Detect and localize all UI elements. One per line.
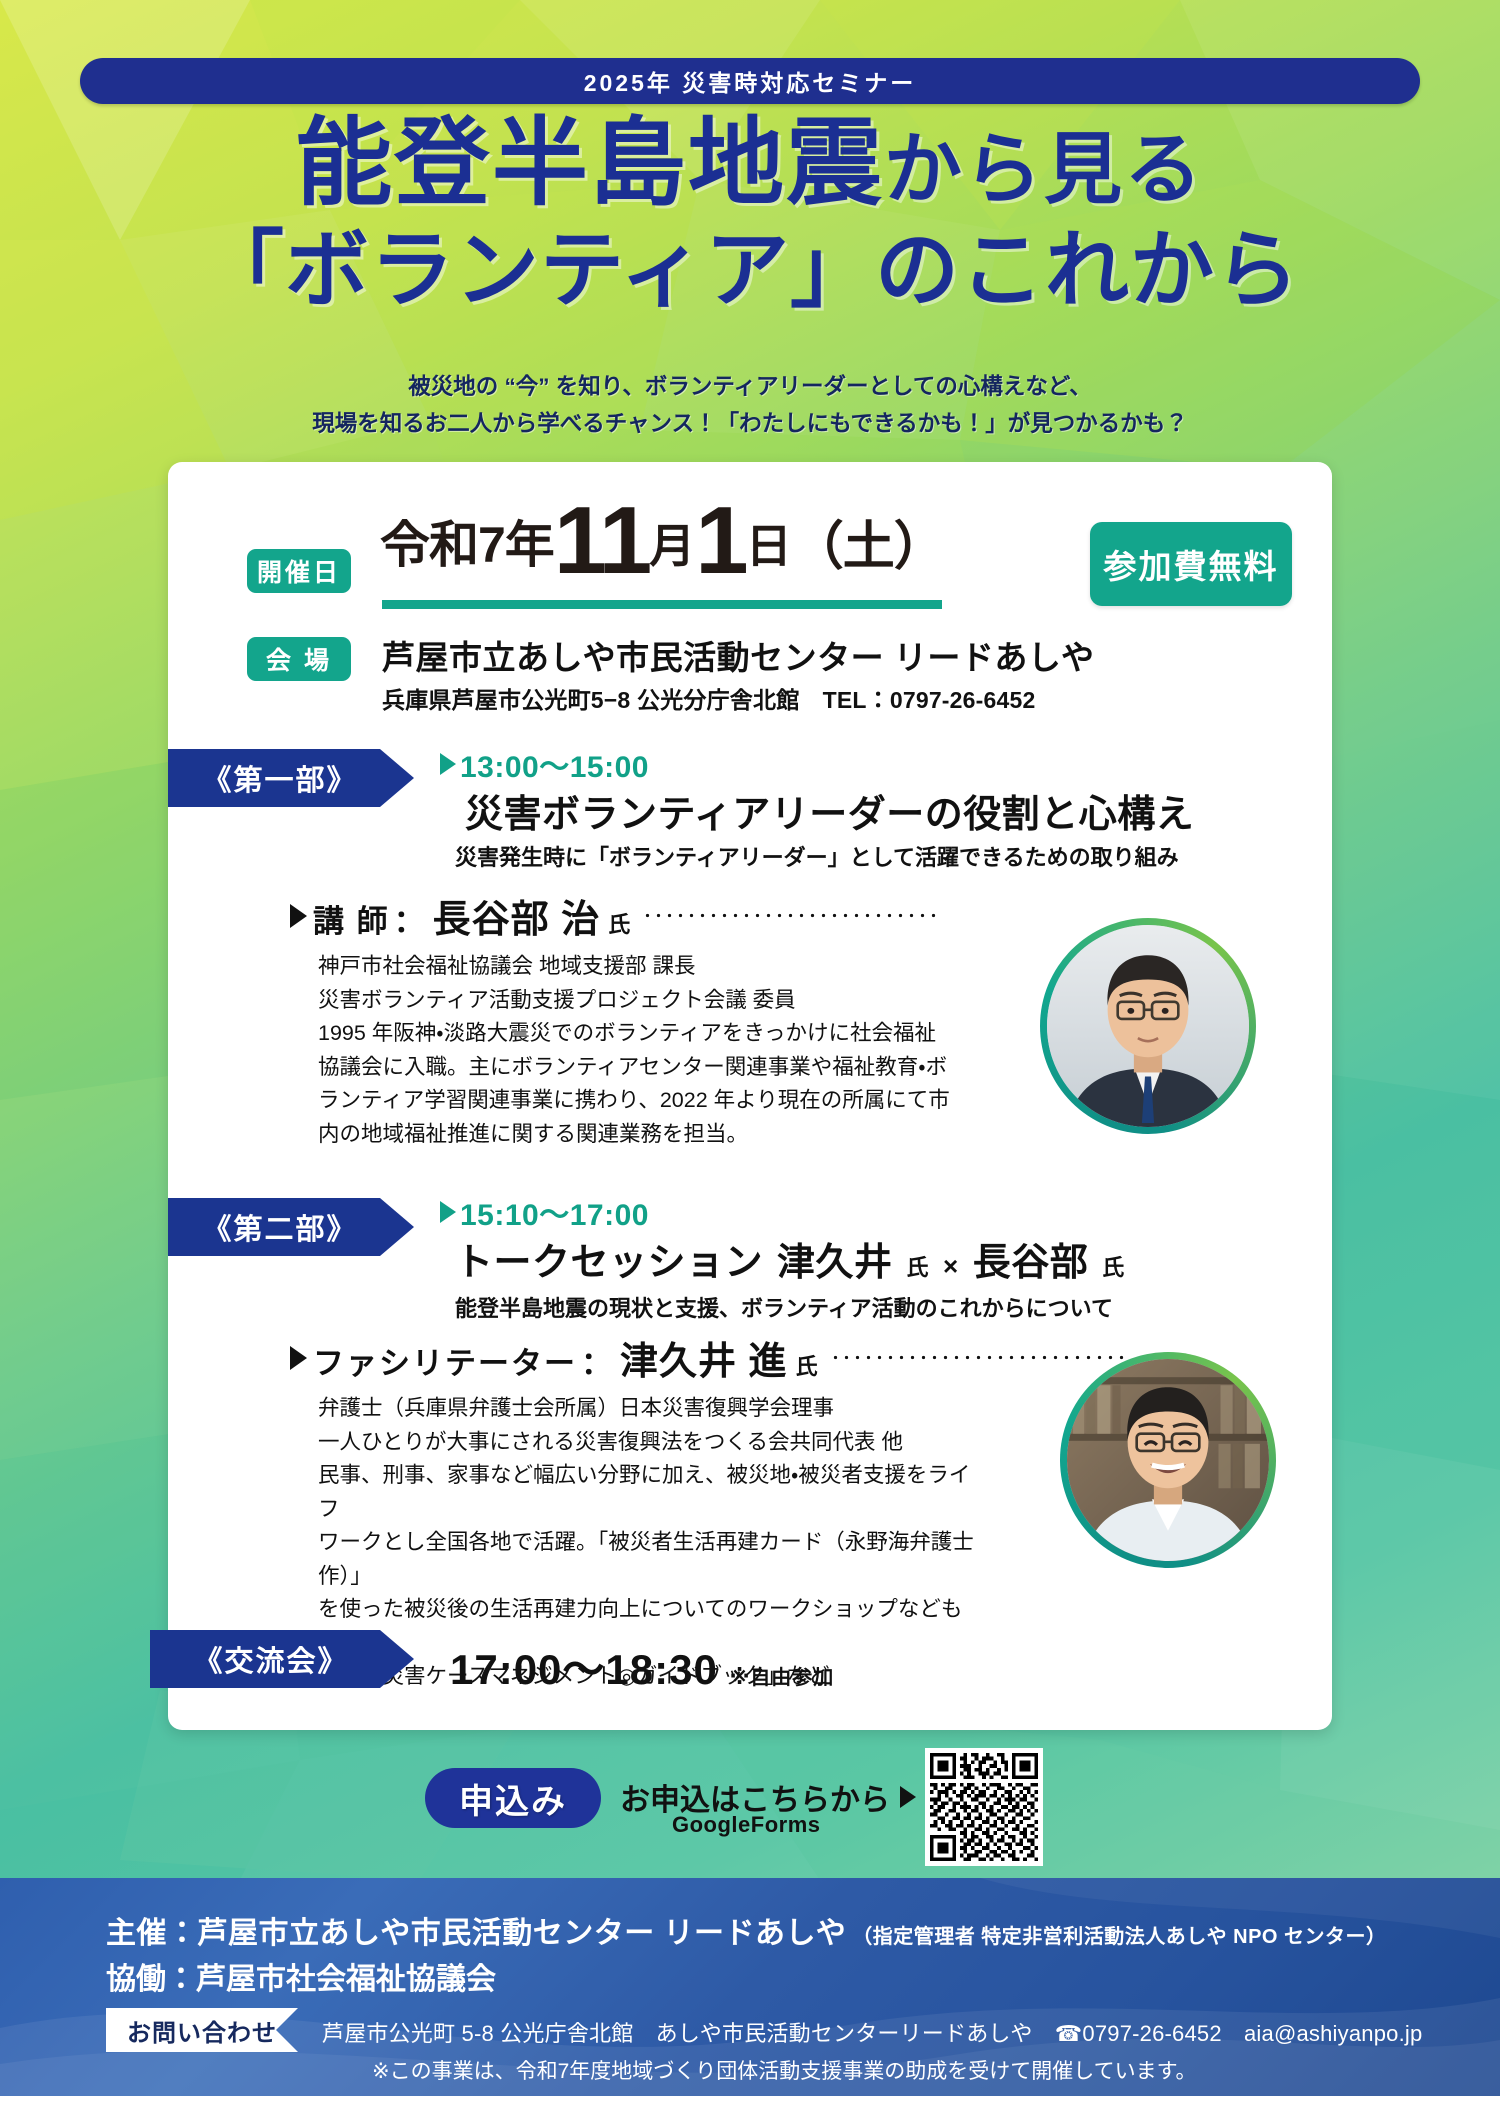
speaker-2-honorific: 氏: [796, 1349, 818, 1381]
lead-text: 被災地の “今” を知り、ボランティアリーダーとしての心構えなど、 現場を知るお…: [0, 368, 1500, 442]
social-time: 17:00～18:30 ※自由参加: [450, 1636, 834, 1697]
session-2-title: トークセッション 津久井 氏 × 長谷部 氏: [455, 1231, 1125, 1286]
event-date: 令和7年 11 月 1 日 （土）: [380, 500, 1000, 596]
title-line-1: 能登半島地震から見る: [0, 110, 1500, 218]
speaker-1-photo: [1040, 918, 1256, 1134]
footer-host-paren: （指定管理者 特定非営利活動法人あしや NPO センター）: [852, 1920, 1386, 1949]
session-1-title: 災害ボランティアリーダーの役割と心構え: [465, 783, 1194, 838]
footer-host-label: 主催：芦屋市立あしや市民活動センター リードあしや: [106, 1908, 846, 1952]
social-note: ※自由参加: [730, 1661, 834, 1690]
session-1-time: 13:00～15:00: [440, 742, 649, 786]
poster-root: 2025年 災害時対応セミナー 能登半島地震から見る 「ボランティア」のこれから…: [0, 0, 1500, 2104]
date-month-number: 11: [554, 500, 649, 583]
seminar-banner-text: 2025年 災害時対応セミナー: [584, 64, 917, 98]
footer-contact-line: 芦屋市公光町 5-8 公光庁舎北館 あしや市民活動センターリードあしや ☎079…: [322, 2016, 1422, 2048]
date-underline: [382, 600, 942, 609]
play-triangle-icon: [290, 1346, 307, 1370]
speaker-1-bio: 神戸市社会福祉協議会 地域支援部 課長 災害ボランティア活動支援プロジェクト会議…: [318, 950, 958, 1151]
qr-code-icon[interactable]: [925, 1748, 1043, 1866]
date-tag: 開催日: [247, 549, 351, 593]
play-triangle-icon: [440, 753, 456, 775]
speaker-2-colon: ：: [581, 1338, 612, 1383]
footer-host: 主催：芦屋市立あしや市民活動センター リードあしや （指定管理者 特定非営利活動…: [106, 1908, 1387, 1952]
title-line-1-tail: から見る: [884, 126, 1204, 213]
venue-tag: 会 場: [247, 637, 351, 681]
speaker-2-name: 津久井 進: [620, 1330, 788, 1385]
play-triangle-icon: [900, 1786, 916, 1808]
speaker-2-photo: [1060, 1352, 1276, 1568]
speaker-1-honorific: 氏: [608, 907, 630, 939]
speaker-1-photo-image: [1047, 925, 1249, 1127]
social-time-text: 17:00～18:30: [450, 1636, 718, 1697]
session-2-cross: ×: [943, 1251, 959, 1282]
speaker-2-role: ファシリテーター: [313, 1338, 577, 1383]
date-day-number: 1: [695, 500, 745, 583]
session-1-ribbon: 《第一部》: [168, 749, 414, 807]
session-1-time-text: 13:00～15:00: [460, 742, 649, 786]
venue-name: 芦屋市立あしや市民活動センター リードあしや: [382, 631, 1095, 679]
session-1-subtitle: 災害発生時に「ボランティアリーダー」として活躍できるための取り組み: [455, 840, 1179, 872]
session-2-guest-b: 長谷部: [973, 1231, 1089, 1286]
session-2-ribbon: 《第二部》: [168, 1198, 414, 1256]
footer-note: ※この事業は、令和7年度地域づくり団体活動支援事業の助成を受けて開催しています。: [372, 2055, 1197, 2085]
speaker-1-role: 講 師: [313, 896, 390, 941]
seminar-banner: 2025年 災害時対応セミナー: [80, 58, 1420, 104]
apply-form-label: GoogleForms: [672, 1812, 821, 1838]
play-triangle-icon: [440, 1201, 456, 1223]
dotted-leader: [642, 913, 942, 918]
speaker-1-name: 長谷部 治: [433, 888, 601, 943]
speaker-1-heading: 講 師 ： 長谷部 治 氏: [290, 888, 942, 943]
social-ribbon: 《交流会》: [150, 1630, 414, 1688]
footer-cooperation: 協働：芦屋市社会福祉協議会: [106, 1954, 496, 1998]
free-admission-badge: 参加費無料: [1090, 522, 1292, 606]
date-reiwa: 令和7年: [380, 505, 554, 583]
session-2-time: 15:10～17:00: [440, 1190, 649, 1234]
apply-button[interactable]: 申込み: [425, 1768, 601, 1828]
lead-line-1: 被災地の “今” を知り、ボランティアリーダーとしての心構えなど、: [0, 368, 1500, 405]
footer-bottom-strip: [0, 2096, 1500, 2104]
venue-address: 兵庫県芦屋市公光町5−8 公光分庁舎北館 TEL：0797-26-6452: [382, 681, 1035, 715]
play-triangle-icon: [290, 904, 307, 928]
date-month-kanji: 月: [649, 510, 695, 583]
session-2-time-text: 15:10～17:00: [460, 1190, 649, 1234]
date-day-kanji: 日: [746, 510, 792, 583]
title-line-2: 「ボランティア」のこれから: [0, 222, 1500, 323]
speaker-2-photo-image: [1067, 1359, 1269, 1561]
session-2-guest-a: 津久井: [777, 1231, 893, 1286]
speaker-1-colon: ：: [394, 896, 425, 941]
session-2-guest-b-honorific: 氏: [1102, 1250, 1125, 1282]
footer-contact-tag: お問い合わせ: [106, 2008, 298, 2052]
speaker-2-heading: ファシリテーター ： 津久井 進 氏: [290, 1330, 1130, 1385]
title-line-1-main: 能登半島地震: [296, 110, 884, 217]
session-2-guest-a-honorific: 氏: [907, 1250, 930, 1282]
page-title: 能登半島地震から見る 「ボランティア」のこれから: [0, 110, 1500, 322]
date-weekday: （土）: [792, 504, 945, 583]
session-2-subtitle: 能登半島地震の現状と支援、ボランティア活動のこれからについて: [455, 1291, 1113, 1323]
lead-line-2: 現場を知るお二人から学べるチャンス！「わたしにもできるかも！」が見つかるかも？: [0, 405, 1500, 442]
session-2-title-text: トークセッション: [455, 1231, 763, 1286]
